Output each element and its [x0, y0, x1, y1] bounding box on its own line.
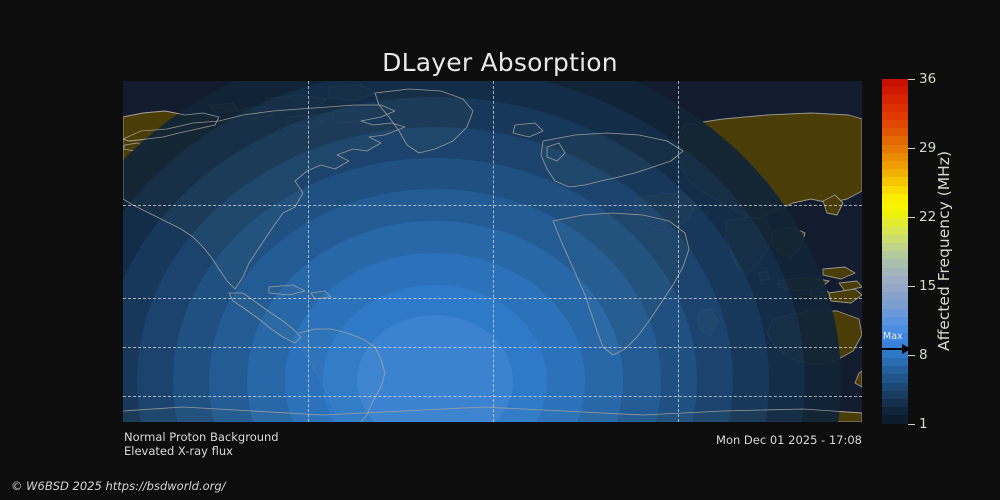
colorbar-band: [882, 268, 908, 276]
colorbar-tick: [908, 355, 915, 356]
colorbar-tick: [908, 148, 915, 149]
colorbar-band: [882, 120, 908, 128]
colorbar-band: [882, 87, 908, 95]
colorbar-band: [882, 145, 908, 153]
colorbar-band: [882, 325, 908, 333]
colorbar-band: [882, 391, 908, 399]
colorbar-band: [882, 333, 908, 341]
colorbar-band: [882, 276, 908, 284]
colorbar-band: [882, 358, 908, 366]
note-xray-flux: Elevated X-ray flux: [124, 444, 233, 458]
colorbar-tick-label: 36: [919, 71, 936, 87]
colorbar-tick-label: 1: [919, 416, 928, 432]
colorbar-tick-label: 15: [919, 278, 936, 294]
colorbar-band: [882, 292, 908, 300]
colorbar-band: [882, 300, 908, 308]
colorbar-tick-label: 8: [919, 347, 928, 363]
colorbar-band: [882, 218, 908, 226]
colorbar-tick: [908, 424, 915, 425]
colorbar-band: [882, 284, 908, 292]
colorbar-tick-label: 29: [919, 140, 936, 156]
page-title: DLayer Absorption: [0, 48, 1000, 77]
colorbar-band: [882, 350, 908, 358]
colorbar-band: [882, 186, 908, 194]
dlayer-absorption-map-page: DLayer Absorption: [0, 0, 1000, 500]
colorbar-band: [882, 342, 908, 350]
world-map-panel[interactable]: [123, 81, 862, 422]
colorbar-band: [882, 259, 908, 267]
colorbar-band: [882, 112, 908, 120]
colorbar-band: [882, 79, 908, 87]
colorbar-band: [882, 136, 908, 144]
colorbar-band: [882, 95, 908, 103]
colorbar-axis-label: Affected Frequency (MHz): [935, 151, 953, 351]
colorbar-band: [882, 194, 908, 202]
colorbar[interactable]: [882, 79, 908, 424]
colorbar-tick-label: 22: [919, 209, 936, 225]
colorbar-band: [882, 317, 908, 325]
colorbar-band: [882, 251, 908, 259]
colorbar-band: [882, 407, 908, 415]
colorbar-band: [882, 128, 908, 136]
colorbar-band: [882, 383, 908, 391]
colorbar-tick: [908, 217, 915, 218]
map-canvas: [123, 81, 862, 422]
footer-credit: © W6BSD 2025 https://bsdworld.org/: [11, 479, 226, 493]
colorbar-band: [882, 243, 908, 251]
colorbar-band: [882, 235, 908, 243]
colorbar-band: [882, 169, 908, 177]
colorbar-band: [882, 161, 908, 169]
timestamp-label: Mon Dec 01 2025 - 17:08: [716, 433, 862, 447]
colorbar-band: [882, 210, 908, 218]
colorbar-band: [882, 399, 908, 407]
colorbar-band: [882, 202, 908, 210]
colorbar-tick: [908, 79, 915, 80]
colorbar-tick: [908, 286, 915, 287]
colorbar-band: [882, 177, 908, 185]
colorbar-band: [882, 227, 908, 235]
colorbar-band: [882, 309, 908, 317]
colorbar-band: [882, 374, 908, 382]
colorbar-band: [882, 104, 908, 112]
colorbar-gradient: [882, 79, 908, 424]
note-proton-background: Normal Proton Background: [124, 430, 279, 444]
colorbar-band: [882, 366, 908, 374]
colorbar-band: [882, 153, 908, 161]
colorbar-band: [882, 415, 908, 423]
